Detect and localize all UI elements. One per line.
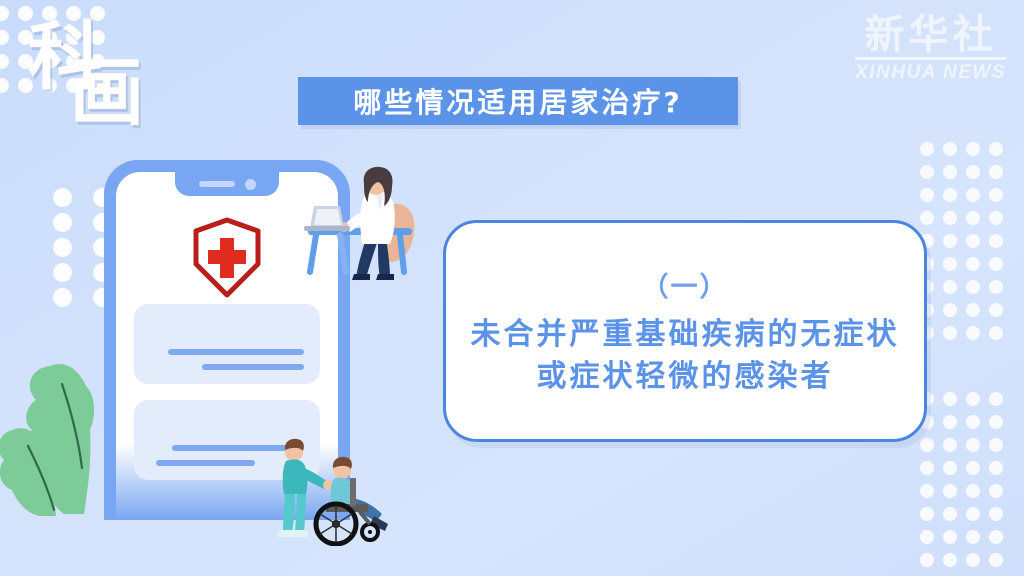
decorative-dot (920, 211, 934, 225)
decorative-dot (53, 213, 72, 232)
decorative-dot (989, 392, 1003, 406)
decorative-dot (920, 530, 934, 544)
decorative-dot (989, 507, 1003, 521)
decorative-dot (989, 188, 1003, 202)
decorative-dot (920, 438, 934, 452)
decorative-dot (989, 530, 1003, 544)
watermark-english-text: XINHUA NEWS (855, 62, 1006, 84)
decorative-dot (920, 507, 934, 521)
decorative-dot (943, 438, 957, 452)
decorative-dot (943, 280, 957, 294)
decorative-dot (943, 530, 957, 544)
decorative-dot (966, 280, 980, 294)
decorative-dot (920, 188, 934, 202)
xinhua-news-watermark: 新华社 XINHUA NEWS (855, 14, 1006, 84)
kehua-logo-char-hua: 画 (70, 56, 140, 130)
decorative-dot (989, 415, 1003, 429)
decorative-dot (989, 438, 1003, 452)
decorative-dot (0, 54, 9, 69)
phone-notch (175, 172, 279, 196)
doctor-at-desk-with-laptop (300, 166, 428, 288)
nurse-teal-scrubs (277, 439, 333, 537)
decorative-dot (943, 415, 957, 429)
placeholder-line (168, 349, 304, 355)
placeholder-line (156, 460, 255, 466)
decorative-dot (966, 392, 980, 406)
phone-content-card-1 (134, 304, 320, 384)
decorative-dot (943, 326, 957, 340)
decorative-dot (943, 165, 957, 179)
phone-speaker-icon (199, 181, 235, 187)
decorative-dot (966, 188, 980, 202)
decorative-dot (0, 6, 9, 21)
decorative-dot (943, 392, 957, 406)
decorative-dot (966, 553, 980, 567)
dot-grid-right-lower (920, 392, 1012, 576)
decorative-dot (53, 238, 72, 257)
decorative-dot (966, 326, 980, 340)
card-index-label: （一） (642, 265, 729, 304)
card-text-line-1: 未合并严重基础疾病的无症状 (471, 314, 900, 355)
card-text-line-2: 或症状轻微的感染者 (537, 356, 834, 397)
decorative-dot (989, 234, 1003, 248)
decorative-dot (966, 461, 980, 475)
decorative-dot (53, 288, 72, 307)
decorative-dot (966, 438, 980, 452)
decorative-dot (53, 188, 72, 207)
decorative-dot (920, 165, 934, 179)
decorative-dot (966, 142, 980, 156)
decorative-dot (966, 530, 980, 544)
kehua-logo: 科 画 (28, 16, 148, 132)
decorative-dot (966, 165, 980, 179)
decorative-dot (943, 211, 957, 225)
nurse-pushing-wheelchair (264, 438, 404, 546)
decorative-dot (989, 326, 1003, 340)
phone-camera-icon (245, 179, 256, 190)
decorative-dot (989, 142, 1003, 156)
title-banner: 哪些情况适用居家治疗? (298, 77, 738, 125)
decorative-dot (920, 142, 934, 156)
medical-shield-cross-icon (190, 216, 264, 300)
decorative-dot (989, 461, 1003, 475)
decorative-dot (989, 553, 1003, 567)
laptop-base (304, 226, 350, 231)
page-title: 哪些情况适用居家治疗? (353, 81, 682, 121)
infographic-canvas: 科 画 新华社 XINHUA NEWS 哪些情况适用居家治疗? (0, 0, 1024, 576)
decorative-dot (943, 188, 957, 202)
patient-in-wheelchair (331, 457, 388, 531)
decorative-dot (966, 211, 980, 225)
decorative-dot (989, 280, 1003, 294)
decorative-dot (943, 303, 957, 317)
decorative-dot (989, 484, 1003, 498)
decorative-dot (989, 303, 1003, 317)
decorative-dot (989, 211, 1003, 225)
decorative-dot (0, 78, 9, 93)
decorative-dot (943, 507, 957, 521)
decorative-dot (943, 553, 957, 567)
dot-grid-right-upper (920, 142, 1012, 349)
nurse-leg-right (295, 494, 306, 532)
decorative-dot (0, 30, 9, 45)
decorative-dot (966, 303, 980, 317)
decorative-dot (989, 165, 1003, 179)
decorative-dot (989, 257, 1003, 271)
decorative-dot (966, 257, 980, 271)
decorative-dot (920, 484, 934, 498)
nurse-leg-left (283, 494, 295, 532)
decorative-dot (943, 461, 957, 475)
decorative-dot (943, 257, 957, 271)
decorative-dot (943, 142, 957, 156)
decorative-dot (53, 263, 72, 282)
decorative-dot (943, 234, 957, 248)
condition-card: （一） 未合并严重基础疾病的无症状 或症状轻微的感染者 (443, 220, 927, 442)
decorative-dot (920, 461, 934, 475)
placeholder-line (202, 364, 304, 370)
decorative-dot (943, 484, 957, 498)
decorative-dot (966, 415, 980, 429)
decorative-dot (966, 234, 980, 248)
decorative-dot (966, 507, 980, 521)
watermark-chinese-text: 新华社 (855, 14, 1006, 56)
decorative-dot (966, 484, 980, 498)
decorative-dot (920, 553, 934, 567)
